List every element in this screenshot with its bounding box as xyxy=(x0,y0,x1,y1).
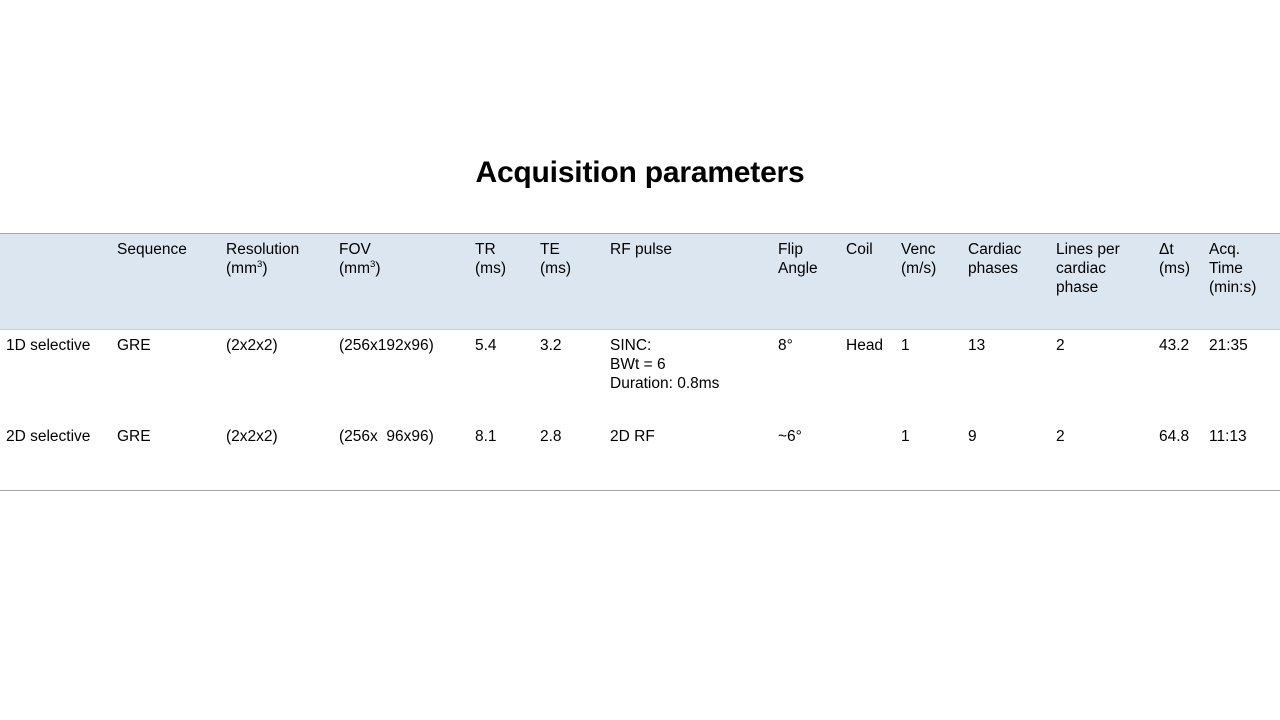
cell-delta-t: 64.8 xyxy=(1153,421,1203,491)
row-label-2d-selective: 2D selective xyxy=(0,421,111,491)
column-header-lines-line3: phase xyxy=(1056,279,1147,298)
row-label-1d-selective: 1D selective xyxy=(0,330,111,422)
acquisition-parameters-table: Sequence Resolution (mm3) FOV (mm3) TR (… xyxy=(0,233,1280,491)
column-header-fov-unit: (mm3) xyxy=(339,260,463,279)
column-header-lines-per-cardiac-phase: Lines per cardiac phase xyxy=(1050,234,1153,330)
unit-base: (mm xyxy=(339,260,370,277)
column-header-lines-line1: Lines per xyxy=(1056,241,1147,260)
column-header-te: TE (ms) xyxy=(534,234,604,330)
cell-flip-angle: 8° xyxy=(772,330,840,422)
cell-te: 2.8 xyxy=(534,421,604,491)
cell-coil xyxy=(840,421,895,491)
unit-close: ) xyxy=(262,260,267,277)
cell-coil: Head xyxy=(840,330,895,422)
cell-acq-time: 11:13 xyxy=(1203,421,1280,491)
column-header-cardiac-phases: Cardiac phases xyxy=(962,234,1050,330)
cell-rf-pulse: 2D RF xyxy=(604,421,772,491)
cell-rf-pulse-line1: 2D RF xyxy=(610,428,766,447)
column-header-te-text: TE xyxy=(540,241,598,260)
column-header-rf-pulse-text: RF pulse xyxy=(610,241,672,258)
column-header-rf-pulse: RF pulse xyxy=(604,234,772,330)
cell-cardiac-phases: 9 xyxy=(962,421,1050,491)
cell-acq-time: 21:35 xyxy=(1203,330,1280,422)
cell-rf-pulse-line1: SINC: xyxy=(610,337,766,356)
cell-delta-t: 43.2 xyxy=(1153,330,1203,422)
unit-base: (mm xyxy=(226,260,257,277)
cell-fov: (256x192x96) xyxy=(333,330,469,422)
cell-resolution: (2x2x2) xyxy=(220,421,333,491)
cell-rf-pulse-line3: Duration: 0.8ms xyxy=(610,375,766,394)
cell-venc: 1 xyxy=(895,421,962,491)
column-header-resolution-text: Resolution xyxy=(226,241,327,260)
column-header-venc-unit: (m/s) xyxy=(901,260,956,279)
column-header-te-unit: (ms) xyxy=(540,260,598,279)
column-header-venc: Venc (m/s) xyxy=(895,234,962,330)
column-header-venc-text: Venc xyxy=(901,241,956,260)
column-header-delta-t-text: Δt xyxy=(1159,241,1197,260)
column-header-delta-t-unit: (ms) xyxy=(1159,260,1197,279)
column-header-fov: FOV (mm3) xyxy=(333,234,469,330)
acquisition-parameters-table-wrapper: Sequence Resolution (mm3) FOV (mm3) TR (… xyxy=(0,233,1280,491)
column-header-cardiac-phases-line2: phases xyxy=(968,260,1044,279)
cell-venc: 1 xyxy=(895,330,962,422)
column-header-acq-time-line3: (min:s) xyxy=(1209,279,1274,298)
page-title: Acquisition parameters xyxy=(0,156,1280,190)
column-header-rowlabel xyxy=(0,234,111,330)
cell-sequence: GRE xyxy=(111,421,220,491)
column-header-tr: TR (ms) xyxy=(469,234,534,330)
cell-lines-per-cardiac-phase: 2 xyxy=(1050,421,1153,491)
column-header-acq-time: Acq. Time (min:s) xyxy=(1203,234,1280,330)
table-row: 2D selective GRE (2x2x2) (256x 96x96) 8.… xyxy=(0,421,1280,491)
column-header-flip-angle-line2: Angle xyxy=(778,260,834,279)
column-header-coil-text: Coil xyxy=(846,241,873,258)
cell-tr: 5.4 xyxy=(469,330,534,422)
table-row: 1D selective GRE (2x2x2) (256x192x96) 5.… xyxy=(0,330,1280,422)
column-header-acq-time-line2: Time xyxy=(1209,260,1274,279)
column-header-tr-unit: (ms) xyxy=(475,260,528,279)
cell-te: 3.2 xyxy=(534,330,604,422)
column-header-resolution: Resolution (mm3) xyxy=(220,234,333,330)
table-body: 1D selective GRE (2x2x2) (256x192x96) 5.… xyxy=(0,330,1280,491)
cell-cardiac-phases: 13 xyxy=(962,330,1050,422)
column-header-acq-time-line1: Acq. xyxy=(1209,241,1274,260)
column-header-delta-t: Δt (ms) xyxy=(1153,234,1203,330)
column-header-flip-angle-line1: Flip xyxy=(778,241,834,260)
cell-flip-angle: ~6° xyxy=(772,421,840,491)
table-header-row: Sequence Resolution (mm3) FOV (mm3) TR (… xyxy=(0,234,1280,330)
cell-tr: 8.1 xyxy=(469,421,534,491)
column-header-tr-text: TR xyxy=(475,241,528,260)
slide-canvas: Acquisition parameters Sequence xyxy=(0,0,1280,720)
cell-lines-per-cardiac-phase: 2 xyxy=(1050,330,1153,422)
column-header-fov-text: FOV xyxy=(339,241,463,260)
cell-sequence: GRE xyxy=(111,330,220,422)
column-header-coil: Coil xyxy=(840,234,895,330)
column-header-lines-line2: cardiac xyxy=(1056,260,1147,279)
cell-rf-pulse: SINC: BWt = 6 Duration: 0.8ms xyxy=(604,330,772,422)
column-header-sequence-text: Sequence xyxy=(117,241,187,258)
cell-rf-pulse-line2: BWt = 6 xyxy=(610,356,766,375)
column-header-flip-angle: Flip Angle xyxy=(772,234,840,330)
unit-close: ) xyxy=(375,260,380,277)
column-header-cardiac-phases-line1: Cardiac xyxy=(968,241,1044,260)
table-header: Sequence Resolution (mm3) FOV (mm3) TR (… xyxy=(0,234,1280,330)
column-header-resolution-unit: (mm3) xyxy=(226,260,327,279)
cell-fov: (256x 96x96) xyxy=(333,421,469,491)
column-header-sequence: Sequence xyxy=(111,234,220,330)
cell-resolution: (2x2x2) xyxy=(220,330,333,422)
